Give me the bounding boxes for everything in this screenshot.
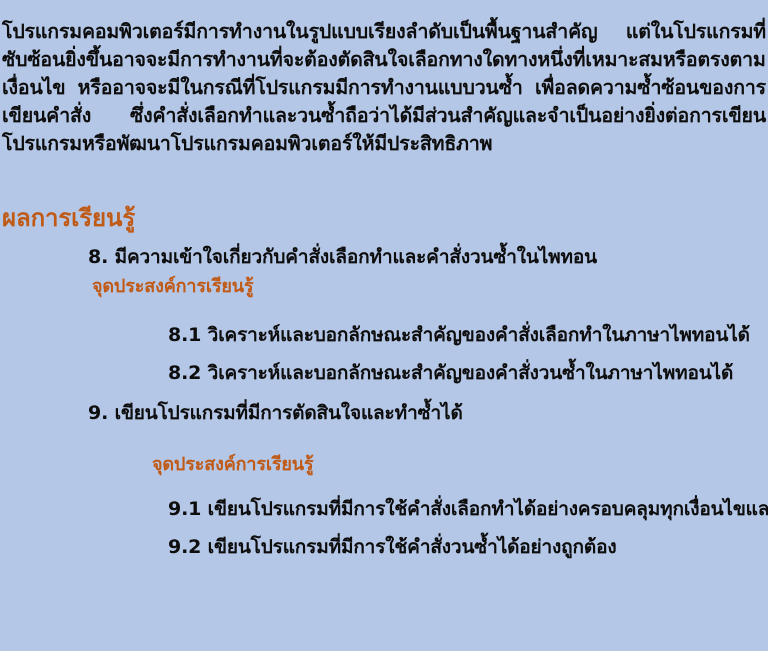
outcome-subitem-8-2: 8.2 วิเคราะห์และบอกลักษณะสำคัญของคำสั่งว…	[0, 360, 768, 386]
learning-outcomes-list: 8. มีความเข้าใจเกี่ยวกับคำสั่งเลือกทำและ…	[0, 244, 768, 560]
objective-label-8: จุดประสงค์การเรียนรู้	[0, 274, 768, 300]
spacer	[0, 300, 768, 322]
section-heading-learning-outcomes: ผลการเรียนรู้	[2, 203, 135, 233]
outcome-subitem-8-1: 8.1 วิเคราะห์และบอกลักษณะสำคัญของคำสั่งเ…	[0, 322, 768, 348]
outcome-item-9: 9. เขียนโปรแกรมที่มีการตัดสินใจและทำซ้ำไ…	[0, 400, 768, 426]
outcome-item-8: 8. มีความเข้าใจเกี่ยวกับคำสั่งเลือกทำและ…	[0, 244, 768, 270]
spacer	[0, 386, 768, 400]
outcome-subitem-9-2: 9.2 เขียนโปรแกรมที่มีการใช้คำสั่งวนซ้ำได…	[0, 534, 768, 560]
intro-paragraph: โปรแกรมคอมพิวเตอร์มีการทำงานในรูปแบบเรีย…	[2, 18, 766, 158]
spacer	[0, 348, 768, 360]
objective-label-9: จุดประสงค์การเรียนรู้	[0, 452, 768, 478]
outcome-subitem-9-1: 9.1 เขียนโปรแกรมที่มีการใช้คำสั่งเลือกทำ…	[0, 496, 768, 522]
spacer	[0, 426, 768, 452]
slide-canvas: โปรแกรมคอมพิวเตอร์มีการทำงานในรูปแบบเรีย…	[0, 0, 768, 651]
spacer	[0, 522, 768, 534]
spacer	[0, 478, 768, 496]
